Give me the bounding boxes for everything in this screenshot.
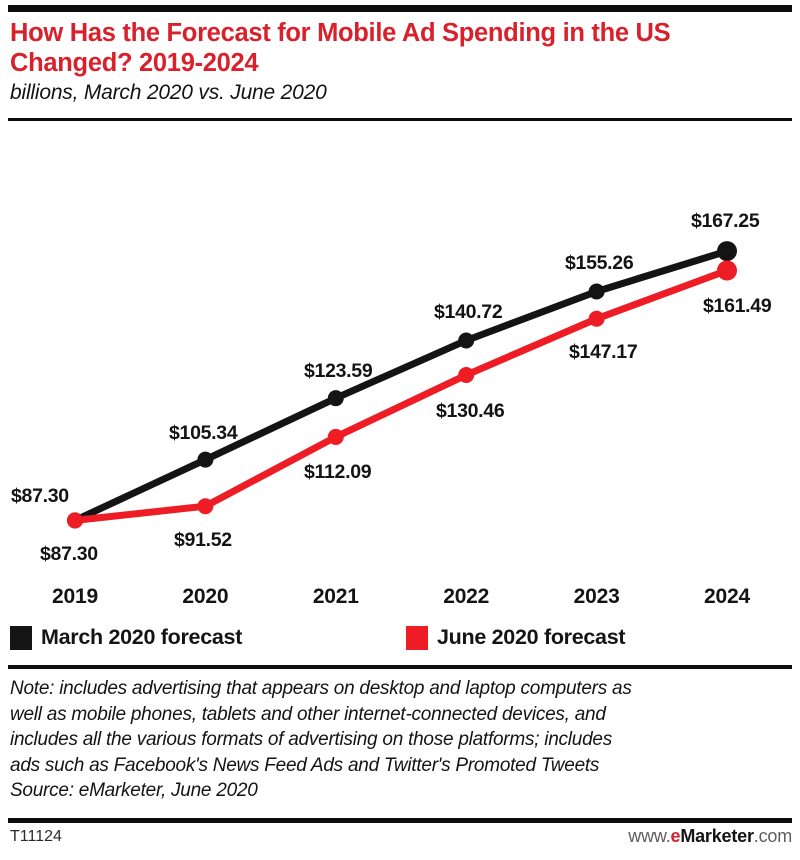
chart-svg [0, 0, 800, 640]
data-point[interactable] [328, 390, 344, 406]
note-line-4: ads such as Facebook's News Feed Ads and… [10, 753, 792, 779]
line-chart-plot: $87.30$105.34$123.59$140.72$155.26$167.2… [0, 0, 800, 640]
legend-item-march[interactable]: March 2020 forecast [10, 625, 242, 650]
note-line-1: Note: includes advertising that appears … [10, 676, 792, 702]
emarketer-chart-card: How Has the Forecast for Mobile Ad Spend… [0, 0, 800, 860]
data-point[interactable] [328, 429, 344, 445]
data-label: $91.52 [174, 529, 232, 552]
data-label: $155.26 [565, 252, 633, 275]
legend-swatch-june [406, 626, 428, 650]
series-line-1 [75, 251, 727, 520]
data-point[interactable] [458, 367, 474, 383]
data-label: $123.59 [304, 360, 372, 383]
x-axis-tick-2024: 2024 [672, 585, 782, 609]
data-label: $140.72 [434, 301, 502, 324]
x-axis-tick-2022: 2022 [411, 585, 521, 609]
note-line-3: includes all the various formats of adve… [10, 727, 792, 753]
logo-tld: .com [754, 826, 792, 846]
chart-notes: Note: includes advertising that appears … [10, 676, 792, 804]
data-point[interactable] [197, 452, 213, 468]
footer-rule [8, 818, 792, 823]
data-point[interactable] [589, 283, 605, 299]
series-line-2 [75, 271, 727, 521]
legend-swatch-march [10, 626, 32, 650]
legend-label-june: June 2020 forecast [437, 625, 625, 650]
logo-e: e [671, 826, 681, 846]
data-point[interactable] [458, 332, 474, 348]
data-label: $130.46 [436, 400, 504, 423]
data-label: $87.30 [11, 485, 69, 508]
data-point[interactable] [67, 512, 83, 528]
legend-label-march: March 2020 forecast [41, 625, 242, 650]
data-label: $87.30 [40, 543, 98, 566]
emarketer-logo[interactable]: www.eMarketer.com [628, 826, 792, 847]
x-axis-tick-2019: 2019 [20, 585, 130, 609]
data-point[interactable] [717, 261, 737, 281]
data-point[interactable] [197, 498, 213, 514]
chart-id: T11124 [10, 828, 62, 846]
data-label: $112.09 [304, 461, 371, 484]
legend-item-june[interactable]: June 2020 forecast [406, 625, 625, 650]
note-line-2: well as mobile phones, tablets and other… [10, 702, 792, 728]
x-axis-tick-2021: 2021 [281, 585, 391, 609]
data-label: $105.34 [169, 422, 237, 445]
legend-rule [8, 665, 792, 669]
data-point[interactable] [717, 241, 737, 261]
data-point[interactable] [589, 311, 605, 327]
logo-marketer: Marketer [680, 826, 753, 846]
data-label: $147.17 [569, 341, 637, 364]
data-label: $161.49 [703, 295, 771, 318]
x-axis-tick-2020: 2020 [150, 585, 260, 609]
note-source: Source: eMarketer, June 2020 [10, 778, 792, 804]
x-axis-tick-2023: 2023 [542, 585, 652, 609]
data-label: $167.25 [691, 210, 759, 233]
logo-www: www. [628, 826, 670, 846]
